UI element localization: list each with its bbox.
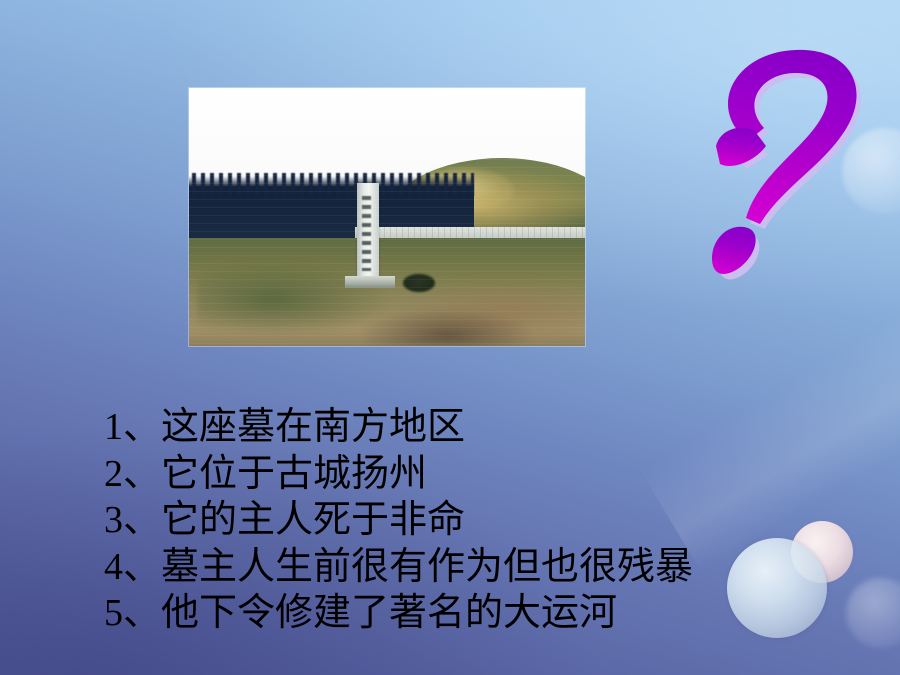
bullet-list: 1、这座墓在南方地区 2、它位于古城扬州 3、它的主人死于非命 4、墓主人生前很… [104, 404, 874, 637]
list-item: 2、它位于古城扬州 [104, 451, 874, 498]
list-item-number: 1、 [104, 404, 161, 451]
list-item: 1、这座墓在南方地区 [104, 404, 874, 451]
list-item-label: 这座墓在南方地区 [161, 406, 465, 448]
list-item-label: 它的主人死于非命 [161, 499, 465, 541]
list-item-label: 它位于古城扬州 [161, 453, 427, 495]
list-item-number: 5、 [104, 590, 161, 637]
question-mark-icon [676, 46, 886, 296]
list-item-number: 4、 [104, 544, 161, 591]
list-item: 4、墓主人生前很有作为但也很残暴 [104, 544, 874, 591]
list-item: 5、他下令修建了著名的大运河 [104, 590, 874, 637]
tomb-mound-photograph [189, 88, 585, 346]
question-mark-body [712, 50, 857, 274]
list-item: 3、它的主人死于非命 [104, 497, 874, 544]
list-item-number: 3、 [104, 497, 161, 544]
list-item-number: 2、 [104, 451, 161, 498]
list-item-label: 墓主人生前很有作为但也很残暴 [161, 546, 693, 588]
presentation-slide: 1、这座墓在南方地区 2、它位于古城扬州 3、它的主人死于非命 4、墓主人生前很… [0, 0, 900, 675]
photo-scan-artifact [189, 88, 585, 346]
list-item-label: 他下令修建了著名的大运河 [161, 592, 617, 634]
